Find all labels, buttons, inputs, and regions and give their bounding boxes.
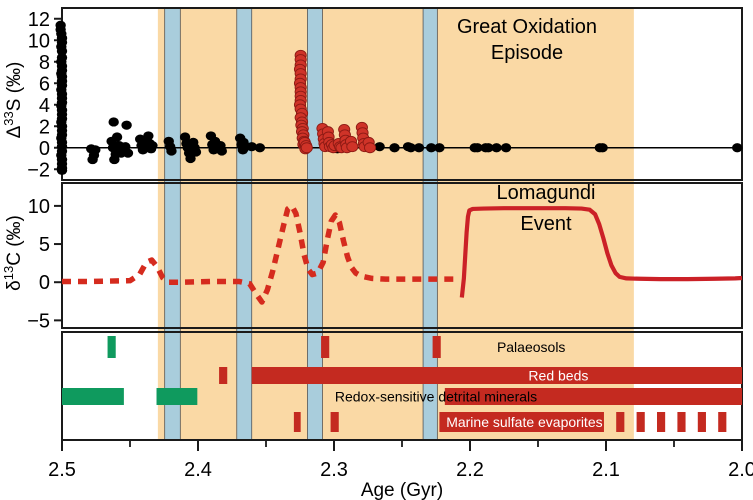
- indicator-row-label-red-beds: Red beds: [528, 368, 588, 384]
- indicator-row-red-beds: [219, 367, 742, 384]
- indicator-row-label-marine-sulfate-evaporites: Marine sulfate evaporites: [446, 414, 602, 430]
- data-point: [364, 143, 375, 153]
- data-point: [389, 143, 399, 152]
- y-ticklabel-d33s-5: 8: [39, 52, 50, 74]
- data-point: [147, 141, 157, 150]
- data-point: [57, 166, 67, 175]
- y-ticklabel-d33s-6: 10: [28, 30, 50, 52]
- y-ticklabel-d13c-2: 5: [39, 234, 50, 256]
- indicator-bar: [657, 412, 665, 432]
- data-point: [434, 143, 444, 152]
- y-ticklabel-d33s-4: 6: [39, 73, 50, 95]
- indicator-bar: [637, 412, 645, 432]
- glaciation-band-1: [237, 8, 252, 440]
- data-point: [301, 143, 312, 153]
- y-ticklabel-d13c-1: 0: [39, 272, 50, 294]
- indicator-bar: [252, 367, 742, 384]
- indicator-row-label-redox-sensitive-detrital-minerals: Redox-sensitive detrital minerals: [335, 389, 537, 405]
- indicator-bar: [62, 388, 124, 405]
- indicator-bar: [616, 412, 624, 432]
- indicator-bar: [157, 388, 198, 405]
- data-point: [217, 146, 227, 155]
- data-point: [108, 117, 118, 126]
- x-ticklabel-4: 2.1: [592, 459, 620, 481]
- indicator-bar: [718, 412, 726, 432]
- data-point: [90, 145, 100, 154]
- x-ticklabel-0: 2.5: [48, 459, 76, 481]
- data-point: [597, 143, 607, 152]
- indicator-bar: [108, 336, 116, 358]
- y-ticklabel-d33s-3: 4: [39, 95, 50, 117]
- x-ticklabel-2: 2.3: [320, 459, 348, 481]
- y-ticklabel-d13c-3: 10: [28, 196, 50, 218]
- indicator-bar: [294, 412, 301, 432]
- data-point: [414, 143, 424, 152]
- data-point: [501, 143, 511, 152]
- y-ticklabel-d33s-0: −2: [27, 159, 50, 181]
- indicator-bar: [321, 336, 329, 358]
- figure-root: −2024681012−505102.52.42.32.22.12.0Palae…: [0, 0, 753, 500]
- data-point: [123, 149, 133, 158]
- data-point: [255, 143, 265, 152]
- y-ticklabel-d33s-2: 2: [39, 116, 50, 138]
- y-ticklabel-d13c-0: −5: [27, 310, 50, 332]
- y-ticklabel-d33s-7: 12: [28, 9, 50, 31]
- indicator-bar: [698, 412, 706, 432]
- data-point: [112, 132, 122, 141]
- indicator-bar: [677, 412, 685, 432]
- data-point: [87, 155, 97, 164]
- data-point: [191, 147, 201, 156]
- data-point: [121, 121, 131, 130]
- chart-svg: −2024681012−505102.52.42.32.22.12.0Palae…: [0, 0, 753, 500]
- x-ticklabel-5: 2.0: [728, 459, 753, 481]
- x-ticklabel-1: 2.4: [184, 459, 212, 481]
- indicator-bar: [219, 367, 227, 384]
- x-ticklabel-3: 2.2: [456, 459, 484, 481]
- data-point: [347, 142, 358, 152]
- indicator-row-label-palaeosols: Palaeosols: [497, 339, 566, 355]
- data-point: [491, 143, 501, 152]
- data-point: [166, 146, 176, 155]
- glaciation-band-0: [165, 8, 181, 440]
- y-ticklabel-d33s-1: 0: [39, 138, 50, 160]
- indicator-bar: [433, 336, 441, 358]
- data-point: [732, 143, 742, 152]
- indicator-bar: [331, 412, 339, 432]
